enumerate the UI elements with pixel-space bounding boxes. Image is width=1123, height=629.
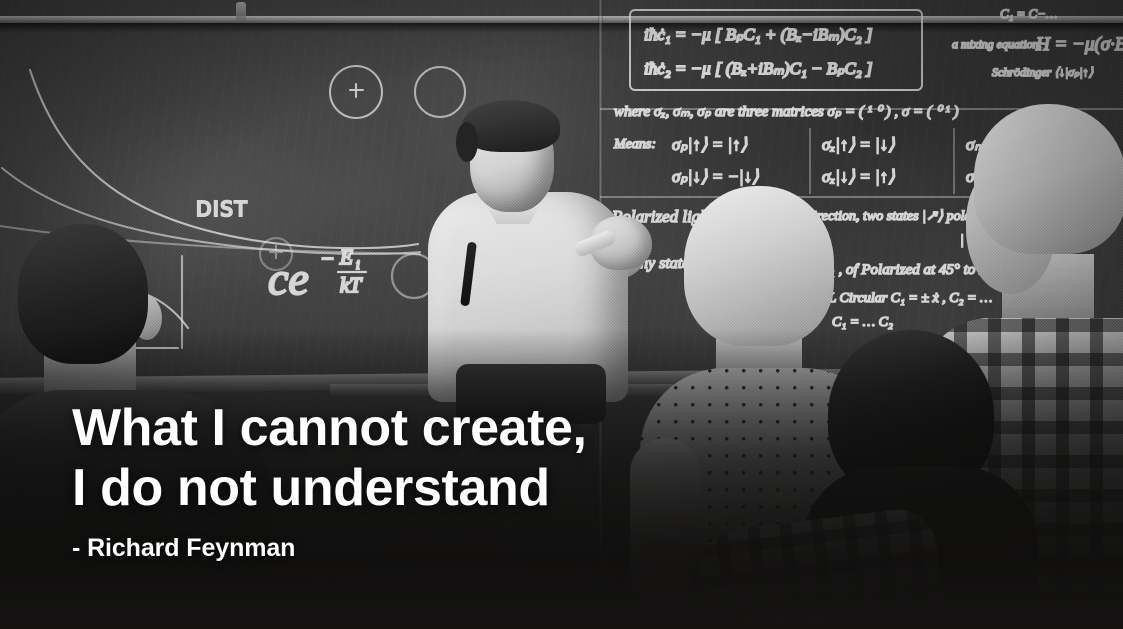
quote-line-2: I do not understand [72,459,912,518]
quote-image: DIST ce − E i kT iħċ₁ = −μ [ BₚC₁ + (Bₓ−… [0,0,1123,629]
quote-caption: What I cannot create, I do not understan… [72,399,912,563]
quote-line-1: What I cannot create, [72,399,912,458]
quote-attribution: - Richard Feynman [72,534,912,563]
